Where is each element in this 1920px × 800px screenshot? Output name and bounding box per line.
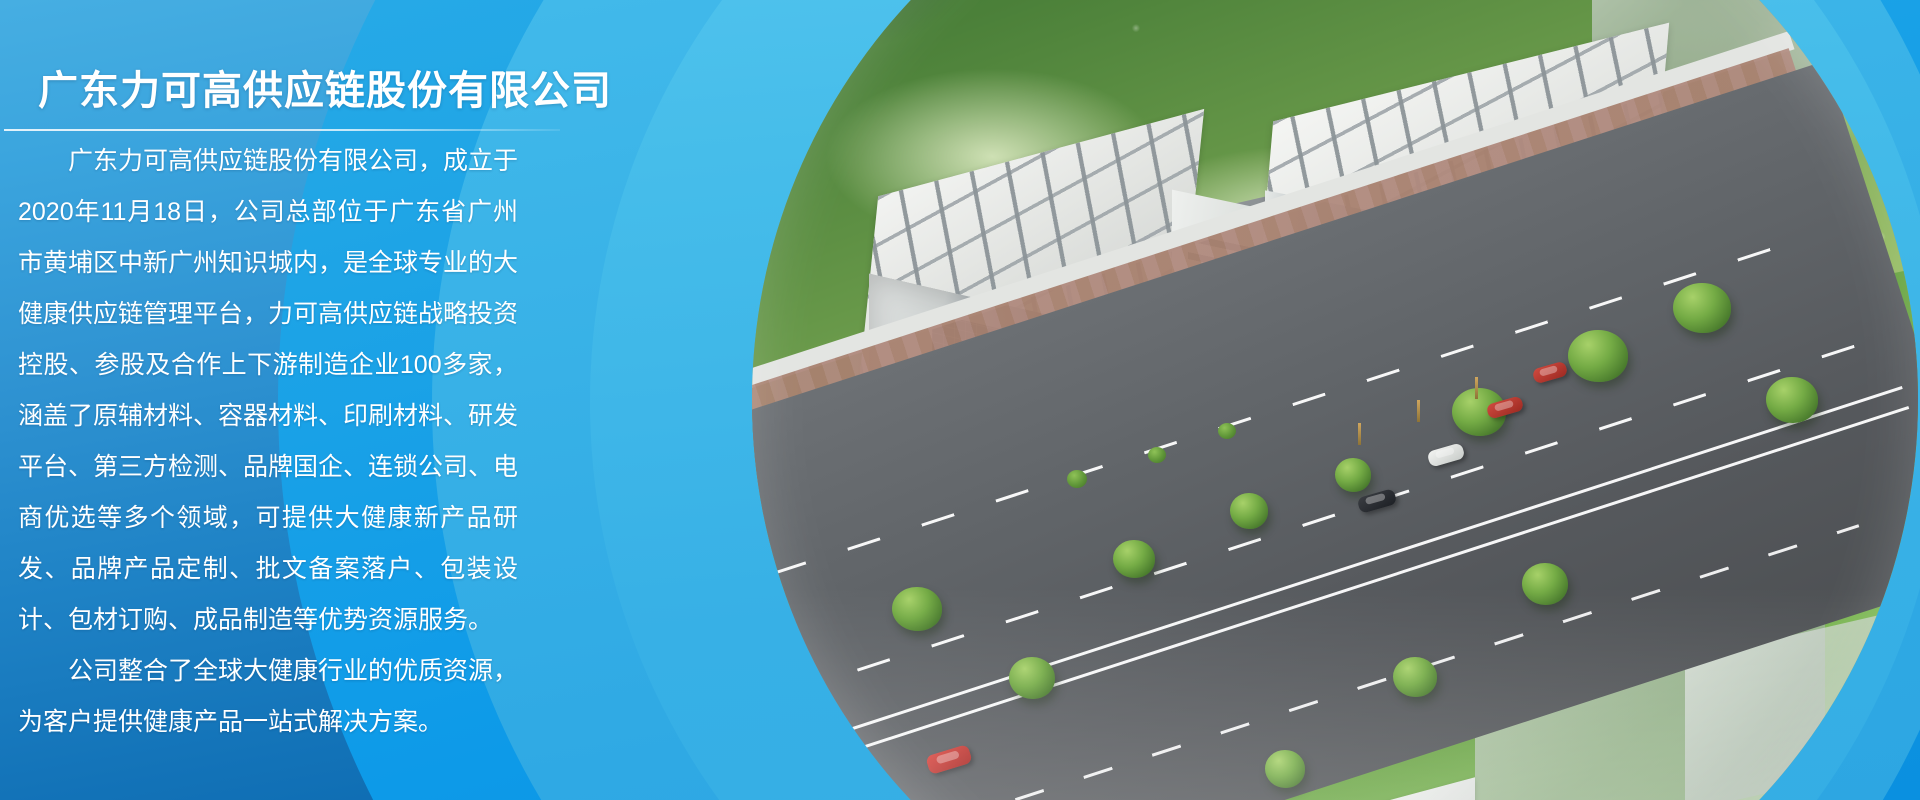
title-divider	[4, 129, 560, 131]
tree	[1393, 657, 1437, 697]
shrub	[1067, 470, 1087, 488]
tree	[1230, 493, 1268, 529]
tree	[892, 587, 942, 631]
shrub	[1148, 447, 1166, 463]
text-column: 广东力可高供应链股份有限公司 广东力可高供应链股份有限公司，成立于2020年11…	[0, 0, 640, 800]
tree	[1335, 458, 1371, 492]
building-photo-disc	[752, 0, 1918, 800]
lamp-post	[1358, 423, 1361, 445]
tree	[1113, 540, 1155, 578]
company-title: 广东力可高供应链股份有限公司	[38, 58, 612, 116]
company-profile-banner: 广东力可高供应链股份有限公司 广东力可高供应链股份有限公司，成立于2020年11…	[0, 0, 1920, 800]
lamp-post	[1475, 377, 1478, 399]
aerial-building-scene	[752, 0, 1918, 800]
tree	[1522, 563, 1568, 605]
description-paragraph-1: 广东力可高供应链股份有限公司，成立于2020年11月18日，公司总部位于广东省广…	[18, 136, 518, 646]
tree	[1766, 377, 1818, 423]
description-paragraph-2: 公司整合了全球大健康行业的优质资源，为客户提供健康产品一站式解决方案。	[18, 646, 518, 748]
tree	[1009, 657, 1055, 699]
company-description: 广东力可高供应链股份有限公司，成立于2020年11月18日，公司总部位于广东省广…	[18, 136, 518, 748]
tree	[1673, 283, 1731, 333]
lamp-post	[1417, 400, 1420, 422]
tree	[1265, 750, 1305, 788]
tree	[1568, 330, 1628, 382]
